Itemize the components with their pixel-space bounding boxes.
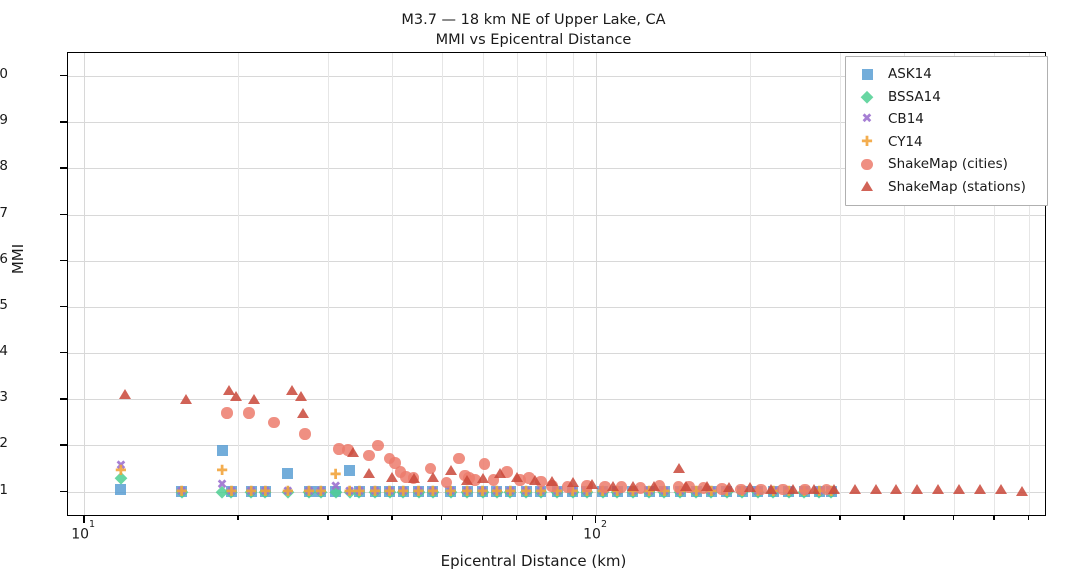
y-tick-label: 10 — [0, 66, 8, 82]
gridline-x-minor — [840, 53, 841, 515]
data-point — [828, 484, 840, 494]
data-point: ✚ — [315, 485, 327, 499]
data-point — [372, 440, 384, 452]
data-point — [427, 472, 439, 482]
gridline-x-major — [84, 53, 85, 515]
y-tick-mark — [60, 260, 67, 261]
x-tick-mark-minor — [749, 516, 750, 520]
gridline-x-minor — [573, 53, 574, 515]
square-marker-icon — [854, 66, 880, 82]
x-tick-mark-minor — [545, 516, 546, 520]
x-tick-mark-major — [83, 516, 84, 523]
gridline-x-minor — [483, 53, 484, 515]
data-point — [870, 484, 882, 494]
data-point — [479, 458, 491, 470]
x-tick-mark-minor — [237, 516, 238, 520]
x-tick-mark-minor — [903, 516, 904, 520]
data-point — [586, 479, 598, 489]
data-point: ✚ — [303, 485, 315, 499]
data-point — [529, 475, 541, 485]
data-point: ✚ — [330, 468, 342, 482]
legend-label: ShakeMap (stations) — [888, 179, 1026, 195]
data-point — [119, 389, 131, 399]
data-point — [461, 475, 473, 485]
x-axis-label: Epicentral Distance (km) — [0, 552, 1067, 570]
x-tick-mark-major — [595, 516, 596, 523]
data-point — [511, 472, 523, 482]
data-point — [477, 473, 489, 483]
data-point — [363, 468, 375, 478]
legend-item-shakemap-cities[interactable]: ShakeMap (cities) — [854, 153, 1039, 176]
data-point: ✚ — [427, 485, 439, 499]
chart-legend[interactable]: ASK14BSSA14✖CB14✚CY14ShakeMap (cities)Sh… — [845, 56, 1048, 206]
data-point: ✚ — [413, 485, 425, 499]
circle-marker-icon — [854, 156, 880, 172]
y-tick-label: 3 — [0, 389, 8, 405]
y-tick-mark — [60, 398, 67, 399]
data-point — [723, 482, 735, 492]
x-tick-mark-minor — [839, 516, 840, 520]
x-tick-mark-minor — [1028, 516, 1029, 520]
data-point — [701, 481, 713, 491]
y-tick-mark — [60, 75, 67, 76]
data-point: ✚ — [384, 485, 396, 499]
y-tick-mark — [60, 167, 67, 168]
gridline-y — [68, 307, 1045, 308]
data-point — [911, 484, 923, 494]
data-point — [243, 407, 255, 419]
y-tick-label: 1 — [0, 482, 8, 498]
gridline-x-minor — [750, 53, 751, 515]
plus-marker-icon: ✚ — [854, 134, 880, 150]
legend-label: ASK14 — [888, 66, 932, 82]
gridline-y — [68, 399, 1045, 400]
gridline-x-minor — [328, 53, 329, 515]
x-tick-mark-minor — [953, 516, 954, 520]
data-point — [995, 484, 1007, 494]
data-point — [217, 445, 228, 456]
data-point — [932, 484, 944, 494]
data-point: ✚ — [245, 485, 257, 499]
data-point — [445, 465, 457, 475]
data-point — [180, 394, 192, 404]
x-tick-mark-minor — [993, 516, 994, 520]
data-point — [282, 468, 293, 479]
data-point — [363, 450, 375, 462]
x-tick-mark-minor — [516, 516, 517, 520]
data-point: ✚ — [260, 485, 272, 499]
x-tick-mark-minor — [441, 516, 442, 520]
y-tick-label: 7 — [0, 205, 8, 221]
legend-label: CB14 — [888, 111, 924, 127]
legend-label: CY14 — [888, 134, 923, 150]
y-tick-mark — [60, 352, 67, 353]
data-point — [115, 484, 126, 495]
x-tick-mark-minor — [327, 516, 328, 520]
legend-label: ShakeMap (cities) — [888, 156, 1008, 172]
data-point: ✚ — [520, 485, 532, 499]
y-tick-label: 6 — [0, 251, 8, 267]
data-point — [567, 477, 579, 487]
y-axis-label: MMI — [9, 219, 27, 299]
y-tick-mark — [60, 491, 67, 492]
gridline-x-minor — [442, 53, 443, 515]
data-point — [230, 391, 242, 401]
data-point — [607, 481, 619, 491]
data-point — [1016, 486, 1028, 496]
y-tick-label: 9 — [0, 112, 8, 128]
data-point — [765, 484, 777, 494]
legend-item-cb14[interactable]: ✖CB14 — [854, 108, 1039, 131]
data-point — [953, 484, 965, 494]
data-point — [494, 468, 506, 478]
data-point: ✚ — [491, 485, 503, 499]
data-point: ✚ — [461, 485, 473, 499]
data-point — [408, 473, 420, 483]
data-point — [297, 408, 309, 418]
y-tick-label: 2 — [0, 435, 8, 451]
y-tick-mark — [60, 444, 67, 445]
data-point — [441, 477, 453, 489]
data-point: ✚ — [226, 485, 238, 499]
chart-title-line1: M3.7 — 18 km NE of Upper Lake, CA — [0, 10, 1067, 30]
gridline-x-minor — [517, 53, 518, 515]
data-point — [248, 394, 260, 404]
diamond-marker-icon — [854, 89, 880, 105]
gridline-y — [68, 445, 1045, 446]
gridline-y — [68, 261, 1045, 262]
data-point: ✚ — [176, 485, 188, 499]
data-point: ✚ — [354, 485, 366, 499]
legend-item-bssa14[interactable]: BSSA14 — [854, 86, 1039, 109]
gridline-x-major — [596, 53, 597, 515]
gridline-x-minor — [546, 53, 547, 515]
y-tick-mark — [60, 121, 67, 122]
chart-figure: M3.7 — 18 km NE of Upper Lake, CA MMI vs… — [0, 0, 1067, 585]
x-marker-icon: ✖ — [854, 111, 880, 127]
x-tick-label: 101 — [71, 525, 95, 543]
data-point — [453, 453, 465, 465]
y-tick-label: 5 — [0, 297, 8, 313]
chart-title: M3.7 — 18 km NE of Upper Lake, CA MMI vs… — [0, 10, 1067, 50]
data-point — [673, 463, 685, 473]
triangle-marker-icon — [854, 179, 880, 195]
data-point: ✚ — [504, 485, 516, 499]
data-point — [849, 484, 861, 494]
x-tick-label: 102 — [583, 525, 607, 543]
gridline-x-minor — [238, 53, 239, 515]
data-point — [546, 476, 558, 486]
data-point — [744, 482, 756, 492]
legend-label: BSSA14 — [888, 89, 941, 105]
y-tick-mark — [60, 214, 67, 215]
data-point — [890, 484, 902, 494]
data-point: ✚ — [115, 464, 127, 478]
y-tick-label: 8 — [0, 158, 8, 174]
data-point — [648, 481, 660, 491]
data-point: ✚ — [282, 485, 294, 499]
data-point — [268, 417, 280, 429]
data-point — [627, 481, 639, 491]
data-point — [299, 428, 311, 440]
data-point — [808, 484, 820, 494]
data-point: ✚ — [216, 464, 228, 478]
data-point — [347, 447, 359, 457]
x-tick-mark-minor — [482, 516, 483, 520]
data-point: ✚ — [369, 485, 381, 499]
data-point — [974, 484, 986, 494]
data-point — [295, 391, 307, 401]
data-point — [787, 484, 799, 494]
gridline-x-minor — [392, 53, 393, 515]
y-tick-mark — [60, 306, 67, 307]
data-point — [680, 481, 692, 491]
legend-item-ask14[interactable]: ASK14 — [854, 63, 1039, 86]
x-tick-mark-minor — [572, 516, 573, 520]
data-point: ✚ — [397, 485, 409, 499]
y-tick-label: 4 — [0, 343, 8, 359]
x-tick-mark-minor — [391, 516, 392, 520]
gridline-y — [68, 215, 1045, 216]
gridline-y — [68, 353, 1045, 354]
legend-item-cy14[interactable]: ✚CY14 — [854, 131, 1039, 154]
chart-title-line2: MMI vs Epicentral Distance — [0, 30, 1067, 50]
data-point — [344, 465, 355, 476]
legend-item-shakemap-stations[interactable]: ShakeMap (stations) — [854, 176, 1039, 199]
data-point: ✚ — [477, 485, 489, 499]
data-point — [386, 472, 398, 482]
data-point — [221, 407, 233, 419]
